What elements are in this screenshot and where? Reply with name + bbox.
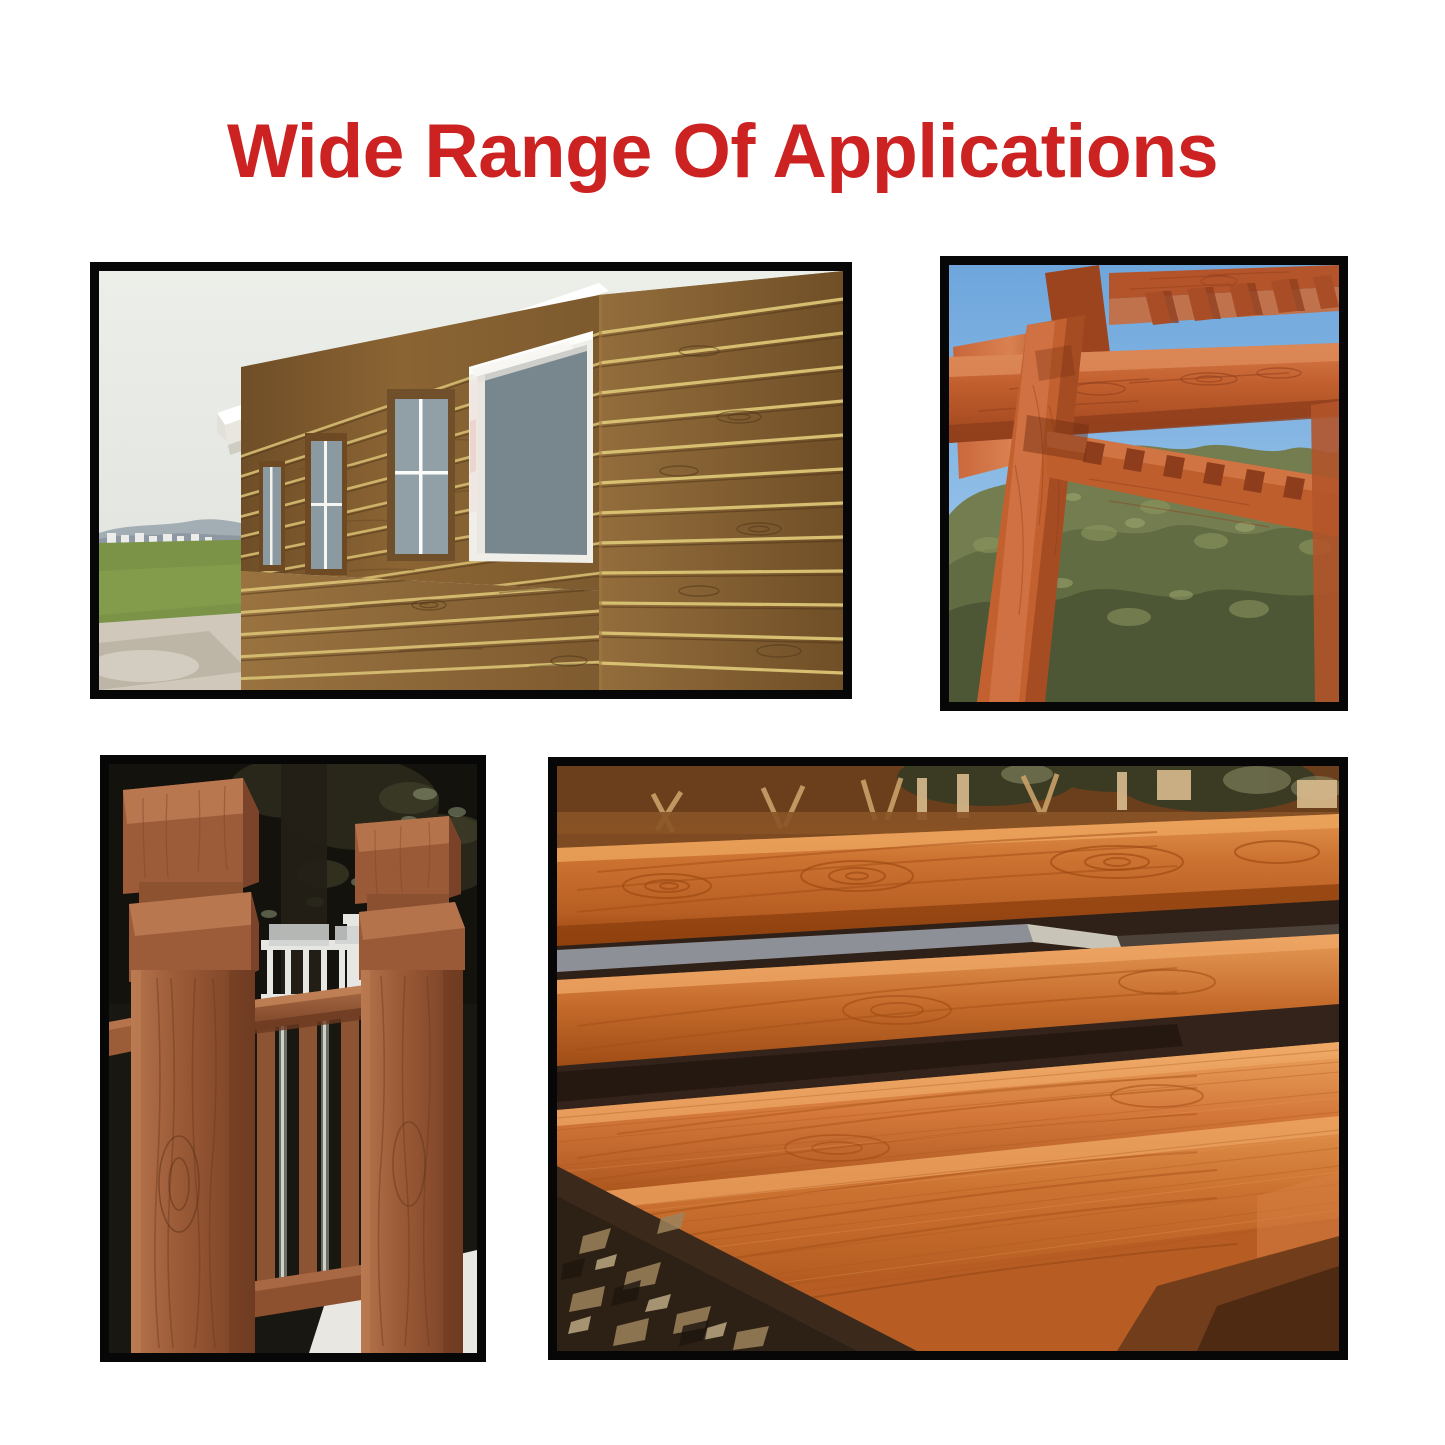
page-root: Wide Range Of Applications: [0, 0, 1445, 1445]
photo-house-siding[interactable]: [90, 262, 852, 699]
photo-house-siding-image: [99, 271, 843, 690]
photo-pergola-beams[interactable]: [940, 256, 1348, 711]
photo-stacked-planks[interactable]: [548, 757, 1348, 1360]
photo-pergola-beams-image: [949, 265, 1339, 702]
page-title: Wide Range Of Applications: [7, 112, 1438, 192]
photo-stacked-planks-image: [557, 766, 1339, 1351]
photo-deck-railing[interactable]: [100, 755, 486, 1362]
photo-deck-railing-image: [109, 764, 477, 1353]
